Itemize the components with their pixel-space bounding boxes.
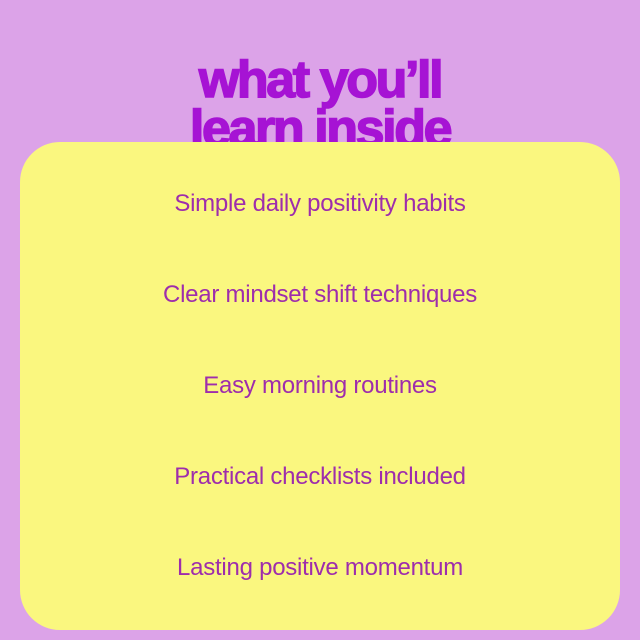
- list-item: Clear mindset shift techniques: [20, 250, 620, 341]
- list-item: Practical checklists included: [20, 432, 620, 523]
- benefits-card: Simple daily positivity habits Clear min…: [20, 142, 620, 630]
- page-title: what you’ll learn inside: [0, 57, 640, 154]
- list-item: Easy morning routines: [20, 341, 620, 432]
- benefits-list: Simple daily positivity habits Clear min…: [20, 142, 620, 630]
- promo-poster: what you’ll learn inside Simple daily po…: [0, 0, 640, 640]
- page-title-line-1: what you’ll: [0, 57, 640, 105]
- list-item: Simple daily positivity habits: [20, 159, 620, 250]
- list-item: Lasting positive momentum: [20, 523, 620, 614]
